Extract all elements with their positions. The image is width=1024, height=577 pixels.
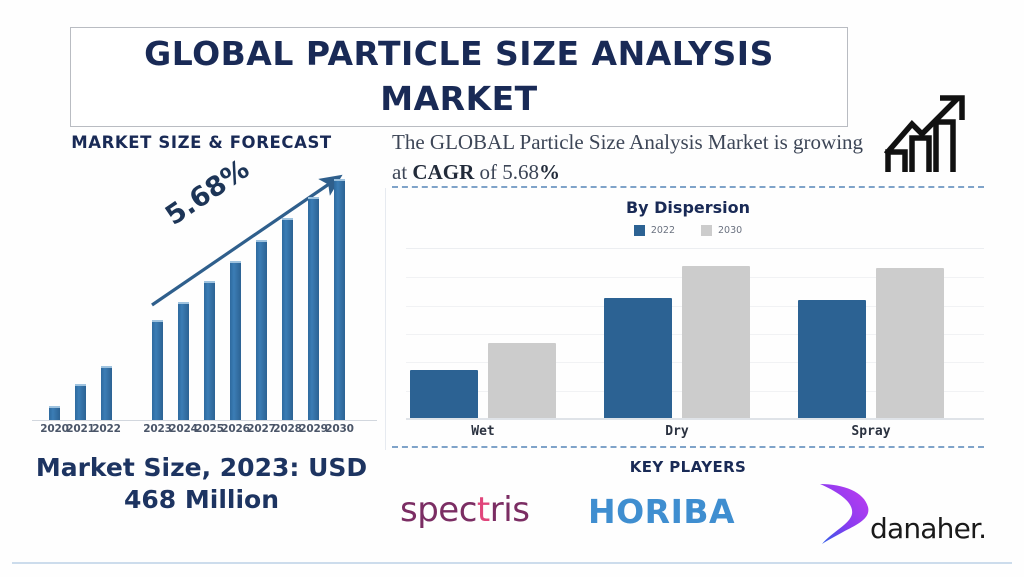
dispersion-category-labels: WetDrySpray [406,424,984,444]
forecast-bar [282,218,293,420]
forecast-bar [308,197,319,420]
dispersion-bar [798,300,866,418]
spectris-logo-part-b: t [477,490,490,530]
forecast-bar [256,240,267,420]
danaher-wordmark: danaher. [870,512,986,545]
key-players-heading: KEY PLAYERS [392,458,984,476]
dispersion-bar [604,298,672,418]
growth-chart-icon [882,86,980,178]
divider-bottom [392,446,984,448]
description-percent: % [539,160,560,184]
dispersion-category-label: Wet [410,424,556,439]
bottom-rule [12,562,1012,564]
forecast-bar [75,384,86,420]
spectris-logo-part-a: spec [400,490,477,530]
market-forecast-bar-chart: 5.68% [32,168,377,420]
cagr-annotation: 5.68% [160,154,255,232]
dispersion-chart-legend: 20222030 [392,225,984,236]
legend-item[interactable]: 2022 [634,225,675,236]
forecast-year-labels: 2020202120222023202420252026202720282029… [32,423,377,441]
dispersion-chart-title: By Dispersion [392,198,984,217]
danaher-logo: danaher. [810,480,985,546]
forecast-year-label: 2022 [90,423,124,435]
dispersion-bar [410,370,478,418]
dispersion-category-label: Dry [604,424,750,439]
right-panel: The GLOBAL Particle Size Analysis Market… [392,128,992,548]
forecast-bar [101,366,112,420]
dispersion-bar [876,268,944,418]
dispersion-bar [682,266,750,418]
description-suffix: of 5.68 [474,160,539,184]
title-box: GLOBAL PARTICLE SIZE ANALYSIS MARKET [70,27,848,127]
dispersion-bar [488,343,556,418]
forecast-bar [204,281,215,421]
spectris-logo-part-c: ris [490,490,530,530]
forecast-axis-line [32,420,377,421]
market-size-forecast-panel: MARKET SIZE & FORECAST 5.68% 20202021202… [24,130,379,545]
description-cagr: CAGR [412,160,474,184]
market-size-value: Market Size, 2023: USD 468 Million [24,452,379,516]
key-players-logos: spectris HORIBA danaher. [392,480,984,546]
dispersion-bar-chart [406,248,984,418]
spectris-logo: spectris [400,490,529,530]
left-panel-heading: MARKET SIZE & FORECAST [24,133,379,152]
legend-swatch [634,225,645,236]
forecast-bar [230,261,241,420]
dispersion-category-label: Spray [798,424,944,439]
forecast-bar [49,406,60,420]
dispersion-axis-line [406,418,984,420]
market-description: The GLOBAL Particle Size Analysis Market… [392,128,882,188]
panel-divider [385,188,386,450]
page-title: GLOBAL PARTICLE SIZE ANALYSIS MARKET [71,32,847,121]
legend-swatch [701,225,712,236]
divider-top [392,186,984,188]
forecast-bar [334,179,345,420]
legend-label: 2030 [718,225,742,236]
legend-item[interactable]: 2030 [701,225,742,236]
forecast-bar [152,320,163,420]
infographic-root: GLOBAL PARTICLE SIZE ANALYSIS MARKET MAR… [0,0,1024,577]
horiba-logo: HORIBA [588,492,735,531]
forecast-year-label: 2030 [323,423,357,435]
legend-label: 2022 [651,225,675,236]
forecast-bar [178,302,189,420]
